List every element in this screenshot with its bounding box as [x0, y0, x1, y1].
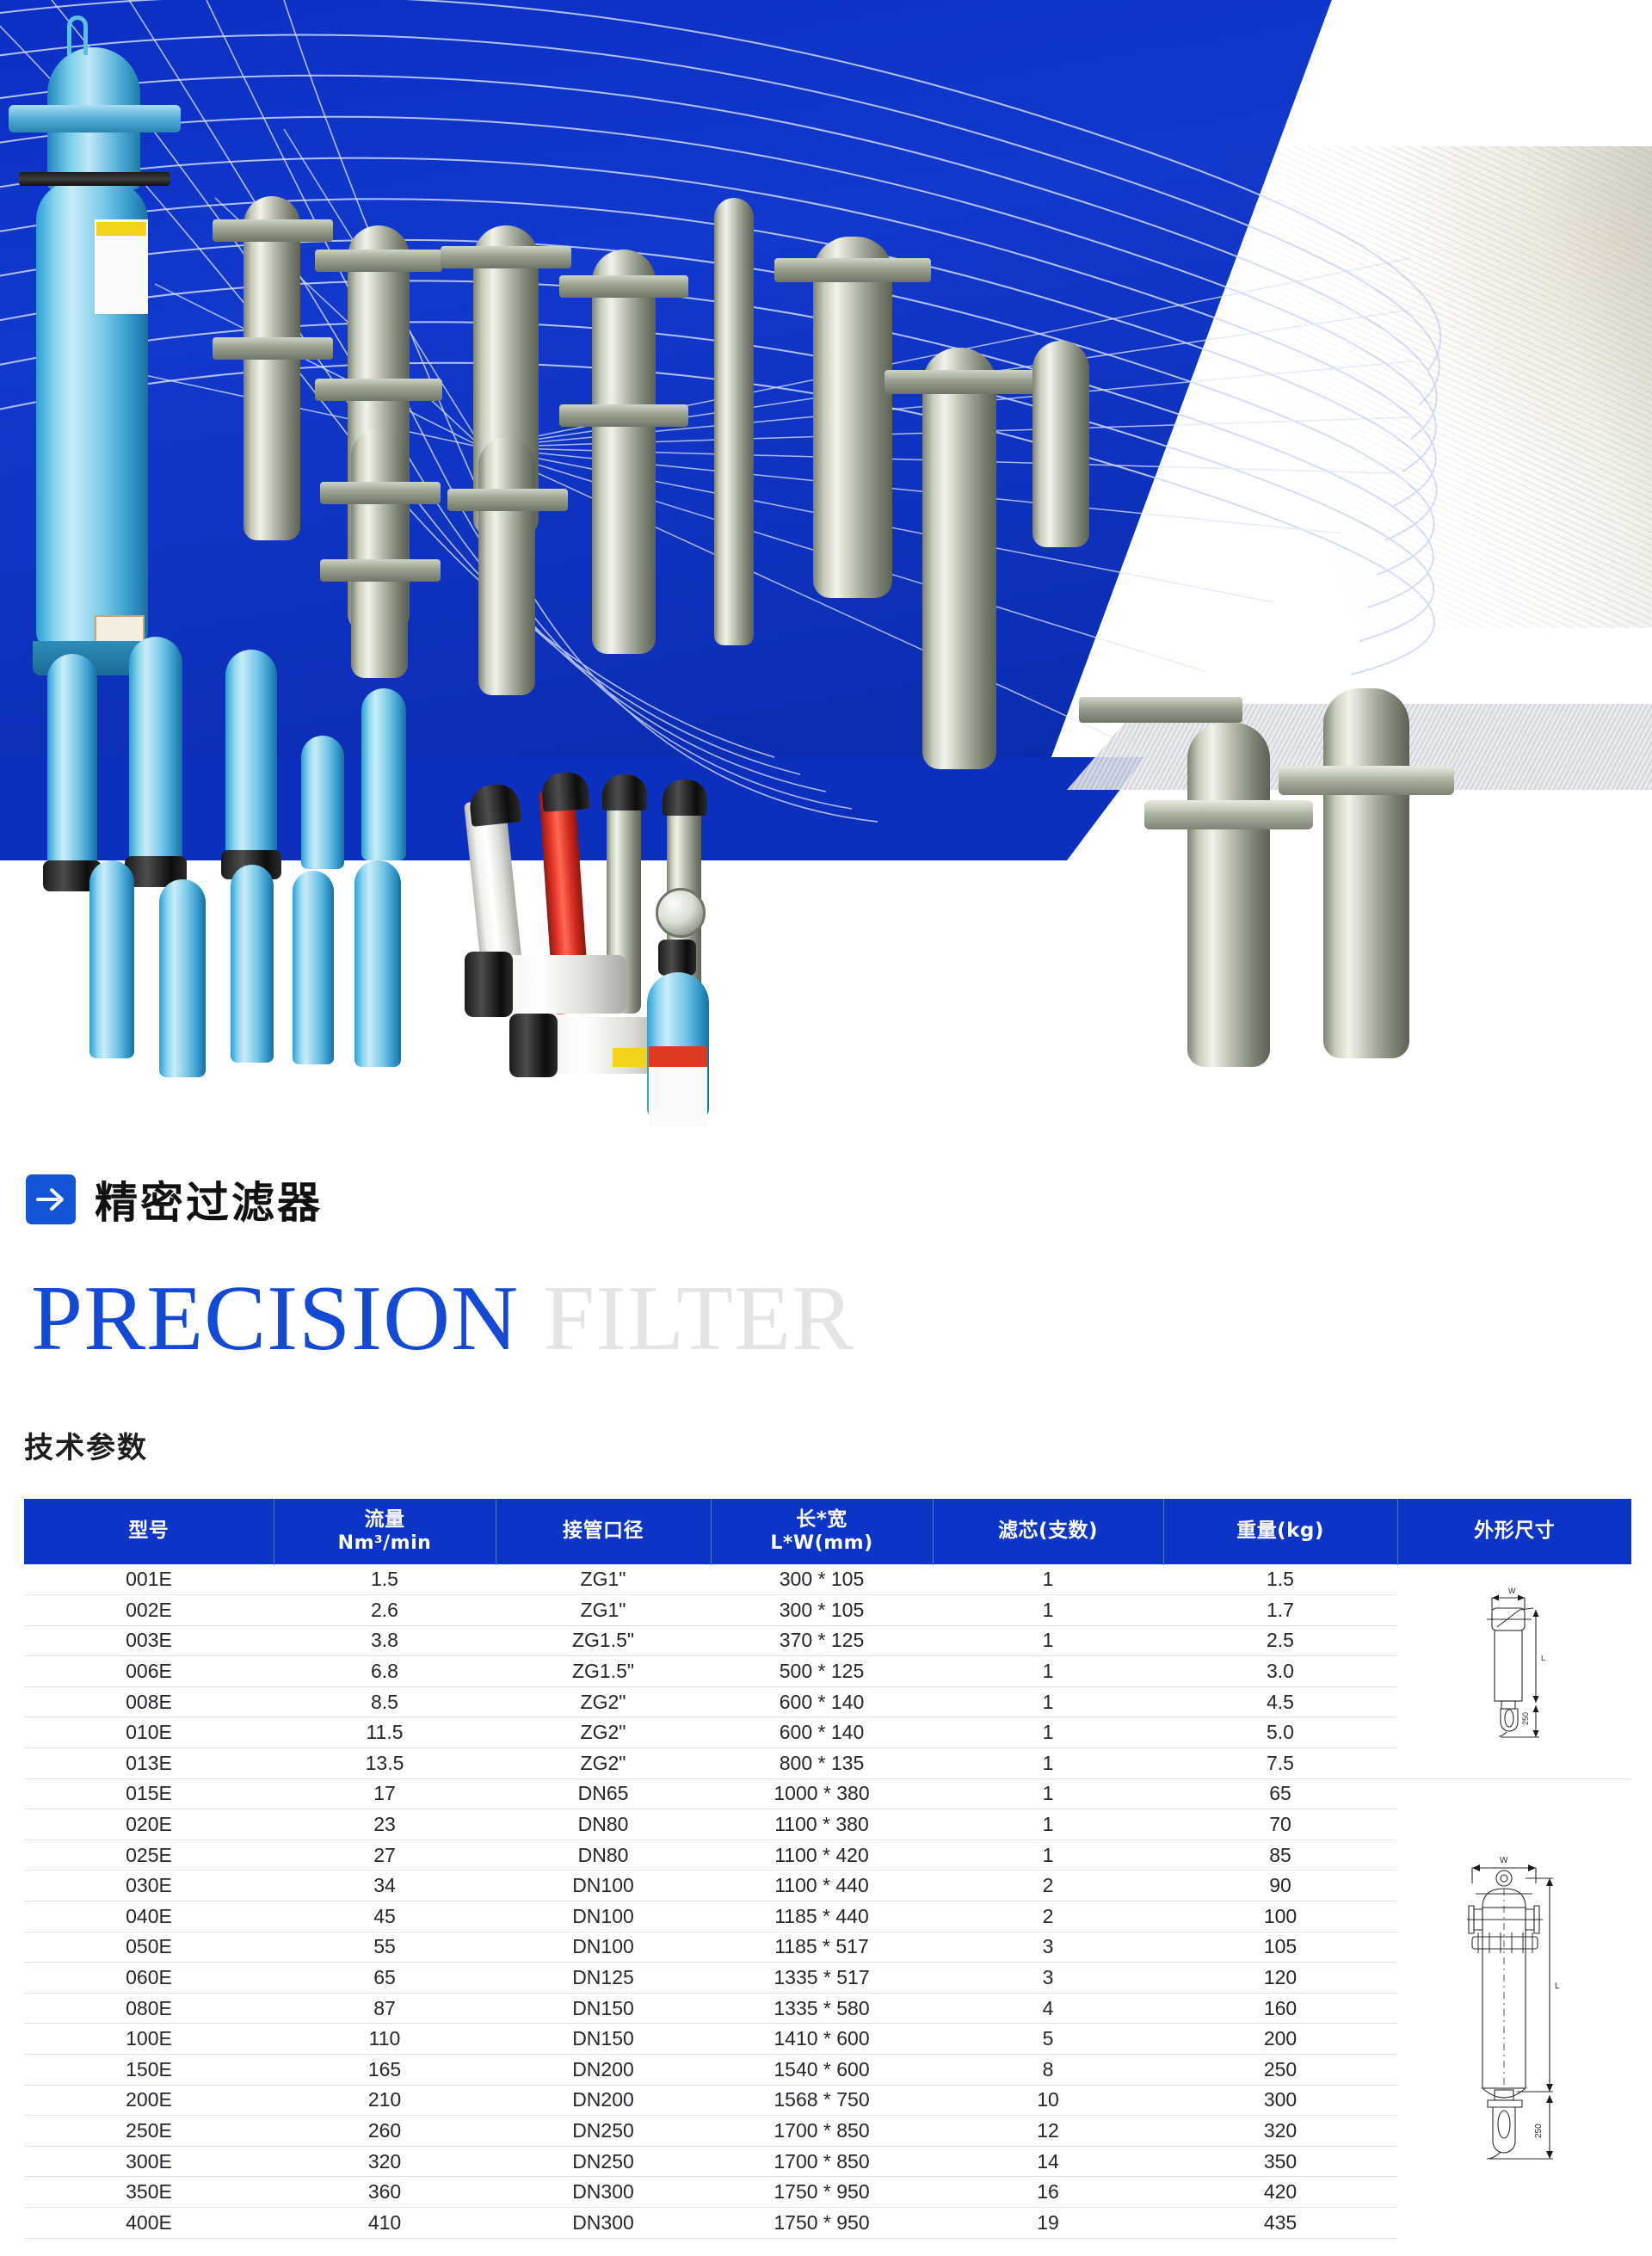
cell-size: 1568 * 750 [711, 2085, 933, 2116]
cell-port: ZG1" [496, 1564, 711, 1595]
product-steel-flange-3a [441, 246, 571, 268]
product-steel-flange-6a [447, 489, 568, 511]
cell-flow: 110 [274, 2024, 496, 2055]
cell-model: 003E [24, 1625, 274, 1656]
cell-flow: 260 [274, 2116, 496, 2147]
cell-cores: 5 [933, 2024, 1163, 2055]
product-small-blue-filter-9 [293, 871, 334, 1064]
cell-size: 600 * 140 [711, 1686, 933, 1717]
col-header-flow-label: 流量 [365, 1508, 405, 1531]
cell-port: DN150 [496, 2024, 711, 2055]
svg-text:W: W [1508, 1587, 1516, 1595]
cell-cores: 1 [933, 1656, 1163, 1687]
table-row: 008E8.5ZG2"600 * 14014.5 [24, 1686, 1631, 1717]
svg-text:250: 250 [1534, 2123, 1544, 2138]
cell-size: 500 * 125 [711, 1656, 933, 1687]
table-row: 006E6.8ZG1.5"500 * 12513.0 [24, 1656, 1631, 1687]
cell-model: 015E [24, 1778, 274, 1809]
cell-size: 1700 * 850 [711, 2116, 933, 2147]
tech-params-label: 技术参数 [24, 1424, 148, 1466]
cell-flow: 1.5 [274, 1564, 496, 1595]
cell-flow: 320 [274, 2146, 496, 2177]
product-small-blue-filter-7 [159, 879, 206, 1077]
cell-flow: 27 [274, 1840, 496, 1871]
cell-flow: 2.6 [274, 1595, 496, 1626]
product-cartridge-steel-2-cap [663, 780, 707, 816]
product-blue-vessel-flange-bolts [19, 172, 170, 186]
cell-size: 1540 * 600 [711, 2055, 933, 2086]
cell-weight: 200 [1163, 2024, 1397, 2055]
col-header-size-label: 长*宽 [796, 1508, 848, 1531]
cell-size: 1700 * 850 [711, 2146, 933, 2177]
cell-weight: 1.5 [1163, 1564, 1397, 1595]
cell-port: DN200 [496, 2085, 711, 2116]
cell-port: DN125 [496, 1963, 711, 1994]
product-gauge-filter-neck [658, 940, 696, 976]
cell-port: DN300 [496, 2177, 711, 2208]
cell-model: 050E [24, 1932, 274, 1963]
cell-port: ZG2" [496, 1686, 711, 1717]
cell-port: DN100 [496, 1902, 711, 1932]
cell-weight: 105 [1163, 1932, 1397, 1963]
cell-port: ZG1" [496, 1595, 711, 1626]
product-steel-flange-1b [213, 337, 333, 360]
catalog-page: 精密过滤器 PRECISION FILTER 技术参数 型号 流量 Nm³/mi… [0, 0, 1652, 2256]
cell-size: 300 * 105 [711, 1564, 933, 1595]
cell-size: 1100 * 380 [711, 1809, 933, 1840]
cell-cores: 8 [933, 2055, 1163, 2086]
table-row: 050E55DN1001185 * 5173105 [24, 1932, 1631, 1963]
cell-weight: 320 [1163, 2116, 1397, 2147]
cell-cores: 1 [933, 1748, 1163, 1779]
cell-model: 200E [24, 2085, 274, 2116]
product-steel-flange-9a [885, 370, 1036, 394]
cell-size: 1100 * 440 [711, 1871, 933, 1902]
product-steel-vessel-7 [714, 198, 754, 645]
cell-model: 002E [24, 1595, 274, 1626]
product-steel-vessel-10 [1032, 341, 1089, 547]
col-header-flow: 流量 Nm³/min [274, 1499, 496, 1564]
cell-flow: 410 [274, 2207, 496, 2238]
cell-weight: 85 [1163, 1840, 1397, 1871]
col-header-port: 接管口径 [496, 1499, 711, 1564]
col-header-weight: 重量(kg) [1163, 1499, 1397, 1564]
large-filter-dimension-drawing: W L 250 [1397, 1832, 1631, 2185]
cell-port: DN80 [496, 1809, 711, 1840]
product-horizontal-cartridge-1-endcap [465, 952, 513, 1017]
cell-size: 1335 * 580 [711, 1993, 933, 2024]
col-header-cores-label: 滤芯(支数) [998, 1519, 1098, 1542]
spec-table-wrapper: 型号 流量 Nm³/min 接管口径 长*宽 L*W(mm) 滤芯(支数) [24, 1499, 1631, 2239]
arrow-right-icon [26, 1174, 76, 1224]
cell-size: 370 * 125 [711, 1625, 933, 1656]
cell-cores: 14 [933, 2146, 1163, 2177]
cell-weight: 5.0 [1163, 1717, 1397, 1748]
cell-size: 300 * 105 [711, 1595, 933, 1626]
cell-cores: 3 [933, 1963, 1163, 1994]
cell-cores: 1 [933, 1840, 1163, 1871]
cell-port: DN150 [496, 1993, 711, 2024]
cell-weight: 100 [1163, 1902, 1397, 1932]
product-cartridge-steel-1-cap [602, 774, 647, 811]
cell-model: 040E [24, 1902, 274, 1932]
product-steel-vessel-6 [478, 437, 535, 695]
product-steel-vessel-11 [1187, 723, 1270, 1067]
cell-port: ZG1.5" [496, 1625, 711, 1656]
cell-port: DN250 [496, 2146, 711, 2177]
cell-flow: 13.5 [274, 1748, 496, 1779]
svg-text:L: L [1541, 1654, 1545, 1662]
table-row: 400E410DN3001750 * 95019435 [24, 2207, 1631, 2238]
cell-cores: 10 [933, 2085, 1163, 2116]
cell-drawing: W L 250 [1397, 1564, 1631, 1778]
product-steel-vessel-9 [922, 348, 996, 769]
product-steel-vessel-5 [351, 428, 408, 678]
cell-weight: 65 [1163, 1778, 1397, 1809]
table-row: 080E87DN1501335 * 5804160 [24, 1993, 1631, 2024]
cell-cores: 1 [933, 1809, 1163, 1840]
cell-flow: 3.8 [274, 1625, 496, 1656]
spec-table-body: 001E1.5ZG1"300 * 10511.5 [24, 1564, 1631, 2238]
product-small-blue-filter-5 [361, 688, 406, 860]
cell-weight: 250 [1163, 2055, 1397, 2086]
cell-port: DN65 [496, 1778, 711, 1809]
small-filter-dimension-drawing: W L 250 [1397, 1572, 1631, 1772]
cell-model: 400E [24, 2207, 274, 2238]
svg-text:250: 250 [1521, 1712, 1530, 1725]
table-row: 040E45DN1001185 * 4402100 [24, 1902, 1631, 1932]
hero-banner [0, 0, 1652, 1149]
section-heading: 精密过滤器 [26, 1168, 323, 1230]
cell-model: 008E [24, 1686, 274, 1717]
table-row: 025E27DN801100 * 420185 [24, 1840, 1631, 1871]
product-steel-flange-4a [559, 275, 688, 298]
table-row: 020E23DN801100 * 380170 [24, 1809, 1631, 1840]
spec-table-head: 型号 流量 Nm³/min 接管口径 长*宽 L*W(mm) 滤芯(支数) [24, 1499, 1631, 1564]
cell-cores: 2 [933, 1871, 1163, 1902]
cell-model: 100E [24, 2024, 274, 2055]
cell-size: 1750 * 950 [711, 2207, 933, 2238]
col-header-port-label: 接管口径 [563, 1519, 644, 1542]
cell-flow: 11.5 [274, 1717, 496, 1748]
cell-drawing: W L 250 [1397, 1778, 1631, 2238]
col-header-weight-label: 重量(kg) [1236, 1519, 1324, 1542]
product-small-blue-filter-1 [47, 654, 97, 869]
cell-weight: 2.5 [1163, 1625, 1397, 1656]
product-small-blue-filter-4 [301, 736, 344, 869]
cell-model: 010E [24, 1717, 274, 1748]
cell-port: DN80 [496, 1840, 711, 1871]
table-row: 015E17DN651000 * 380165 [24, 1778, 1631, 1809]
cell-cores: 1 [933, 1717, 1163, 1748]
cell-cores: 4 [933, 1993, 1163, 2024]
gauge-icon [656, 888, 706, 938]
cell-port: DN200 [496, 2055, 711, 2086]
section-title-en: PRECISION FILTER [31, 1268, 854, 1371]
spec-table: 型号 流量 Nm³/min 接管口径 长*宽 L*W(mm) 滤芯(支数) [24, 1499, 1631, 2239]
filter-element-closeup-photo [1170, 146, 1652, 628]
cell-size: 1335 * 517 [711, 1963, 933, 1994]
cell-weight: 160 [1163, 1993, 1397, 2024]
cell-model: 060E [24, 1963, 274, 1994]
cell-size: 1410 * 600 [711, 2024, 933, 2055]
section-title-en-secondary: FILTER [543, 1267, 854, 1370]
table-row: 003E3.8ZG1.5"370 * 12512.5 [24, 1625, 1631, 1656]
cell-size: 800 * 135 [711, 1748, 933, 1779]
cell-port: ZG1.5" [496, 1656, 711, 1687]
product-steel-flange-2b [315, 379, 442, 401]
cell-model: 013E [24, 1748, 274, 1779]
product-steel-flange-2a [315, 250, 442, 272]
cell-port: DN300 [496, 2207, 711, 2238]
cell-port: ZG2" [496, 1717, 711, 1748]
cell-model: 080E [24, 1993, 274, 2024]
product-steel-vessel-8 [813, 237, 892, 598]
col-header-cores: 滤芯(支数) [933, 1499, 1163, 1564]
cell-weight: 3.0 [1163, 1656, 1397, 1687]
cell-cores: 1 [933, 1564, 1163, 1595]
col-header-size-unit: L*W(mm) [712, 1532, 933, 1555]
cell-port: DN100 [496, 1871, 711, 1902]
cell-flow: 34 [274, 1871, 496, 1902]
col-header-drawing-label: 外形尺寸 [1474, 1519, 1555, 1542]
cell-flow: 65 [274, 1963, 496, 1994]
col-header-flow-unit: Nm³/min [274, 1532, 496, 1555]
table-row: 150E165DN2001540 * 6008250 [24, 2055, 1631, 2086]
product-small-blue-filter-3 [225, 650, 277, 856]
cell-model: 350E [24, 2177, 274, 2208]
cell-size: 1750 * 950 [711, 2177, 933, 2208]
product-bolt-ring-11 [1144, 800, 1313, 829]
table-row: 010E11.5ZG2"600 * 14015.0 [24, 1717, 1631, 1748]
cell-flow: 17 [274, 1778, 496, 1809]
spec-table-header-row: 型号 流量 Nm³/min 接管口径 长*宽 L*W(mm) 滤芯(支数) [24, 1499, 1631, 1564]
table-row: 002E2.6ZG1"300 * 10511.7 [24, 1595, 1631, 1626]
cell-model: 030E [24, 1871, 274, 1902]
cell-size: 1000 * 380 [711, 1778, 933, 1809]
cell-flow: 23 [274, 1809, 496, 1840]
table-row: 200E210DN2001568 * 75010300 [24, 2085, 1631, 2116]
col-header-model-label: 型号 [128, 1519, 169, 1542]
cell-cores: 3 [933, 1932, 1163, 1963]
product-small-blue-filter-8 [231, 865, 274, 1063]
product-blue-vessel-flange-top [9, 105, 181, 133]
product-steel-vessel-1 [243, 196, 300, 540]
product-steel-flange-8a [774, 258, 931, 282]
table-row: 350E360DN3001750 * 95016420 [24, 2177, 1631, 2208]
product-small-blue-filter-10 [354, 860, 401, 1067]
cell-cores: 2 [933, 1902, 1163, 1932]
product-steel-flange-5a [320, 482, 441, 504]
table-row: 100E110DN1501410 * 6005200 [24, 2024, 1631, 2055]
product-blue-vessel-hook [67, 15, 88, 55]
cell-flow: 55 [274, 1932, 496, 1963]
cell-weight: 4.5 [1163, 1686, 1397, 1717]
cell-flow: 8.5 [274, 1686, 496, 1717]
cell-cores: 1 [933, 1595, 1163, 1626]
product-steel-vessel-12 [1323, 688, 1409, 1058]
product-gauge-filter-red-band [649, 1046, 707, 1067]
cell-cores: 1 [933, 1778, 1163, 1809]
cell-cores: 12 [933, 2116, 1163, 2147]
cell-port: DN100 [496, 1932, 711, 1963]
product-steel-flange-5b [320, 559, 441, 582]
cell-weight: 300 [1163, 2085, 1397, 2116]
product-steel-flange-12a [1079, 697, 1242, 723]
product-small-blue-filter-2 [129, 637, 182, 865]
product-steel-flange-4b [559, 404, 688, 427]
table-row: 250E260DN2501700 * 85012320 [24, 2116, 1631, 2147]
cell-cores: 1 [933, 1686, 1163, 1717]
cell-model: 006E [24, 1656, 274, 1687]
table-row: 030E34DN1001100 * 440290 [24, 1871, 1631, 1902]
cell-weight: 420 [1163, 2177, 1397, 2208]
section-title-en-primary: PRECISION [31, 1267, 519, 1370]
cell-model: 001E [24, 1564, 274, 1595]
cell-port: ZG2" [496, 1748, 711, 1779]
cell-model: 150E [24, 2055, 274, 2086]
cell-weight: 1.7 [1163, 1595, 1397, 1626]
cell-flow: 87 [274, 1993, 496, 2024]
cell-weight: 435 [1163, 2207, 1397, 2238]
product-horizontal-cartridge-2-endcap [509, 1014, 558, 1077]
cell-flow: 165 [274, 2055, 496, 2086]
cell-weight: 90 [1163, 1871, 1397, 1902]
product-steel-vessel-4 [592, 250, 656, 654]
cell-size: 1100 * 420 [711, 1840, 933, 1871]
cell-model: 020E [24, 1809, 274, 1840]
table-row: 001E1.5ZG1"300 * 10511.5 [24, 1564, 1631, 1595]
cell-weight: 7.5 [1163, 1748, 1397, 1779]
section-title-cn: 精密过滤器 [95, 1168, 323, 1230]
cell-model: 300E [24, 2146, 274, 2177]
cell-flow: 6.8 [274, 1656, 496, 1687]
table-row: 300E320DN2501700 * 85014350 [24, 2146, 1631, 2177]
cell-flow: 45 [274, 1902, 496, 1932]
col-header-model: 型号 [24, 1499, 274, 1564]
svg-text:L: L [1555, 1982, 1560, 1991]
cell-flow: 360 [274, 2177, 496, 2208]
cell-weight: 350 [1163, 2146, 1397, 2177]
cell-size: 1185 * 517 [711, 1932, 933, 1963]
table-row: 013E13.5ZG2"800 * 13517.5 [24, 1748, 1631, 1779]
product-steel-flange-1a [213, 219, 333, 242]
table-row: 060E65DN1251335 * 5173120 [24, 1963, 1631, 1994]
cell-weight: 70 [1163, 1809, 1397, 1840]
cell-flow: 210 [274, 2085, 496, 2116]
cell-model: 250E [24, 2116, 274, 2147]
product-bolt-ring-12 [1279, 766, 1454, 795]
cell-cores: 1 [933, 1625, 1163, 1656]
col-header-size: 长*宽 L*W(mm) [711, 1499, 933, 1564]
col-header-drawing: 外形尺寸 [1397, 1499, 1631, 1564]
cell-port: DN250 [496, 2116, 711, 2147]
cell-size: 1185 * 440 [711, 1902, 933, 1932]
cell-cores: 19 [933, 2207, 1163, 2238]
cell-model: 025E [24, 1840, 274, 1871]
product-gauge-filter-label [649, 1067, 707, 1127]
cell-weight: 120 [1163, 1963, 1397, 1994]
svg-text:W: W [1500, 1856, 1508, 1865]
product-label-yellow-strip [96, 222, 146, 236]
cell-size: 600 * 140 [711, 1717, 933, 1748]
product-small-blue-filter-6 [89, 860, 134, 1058]
cell-cores: 16 [933, 2177, 1163, 2208]
